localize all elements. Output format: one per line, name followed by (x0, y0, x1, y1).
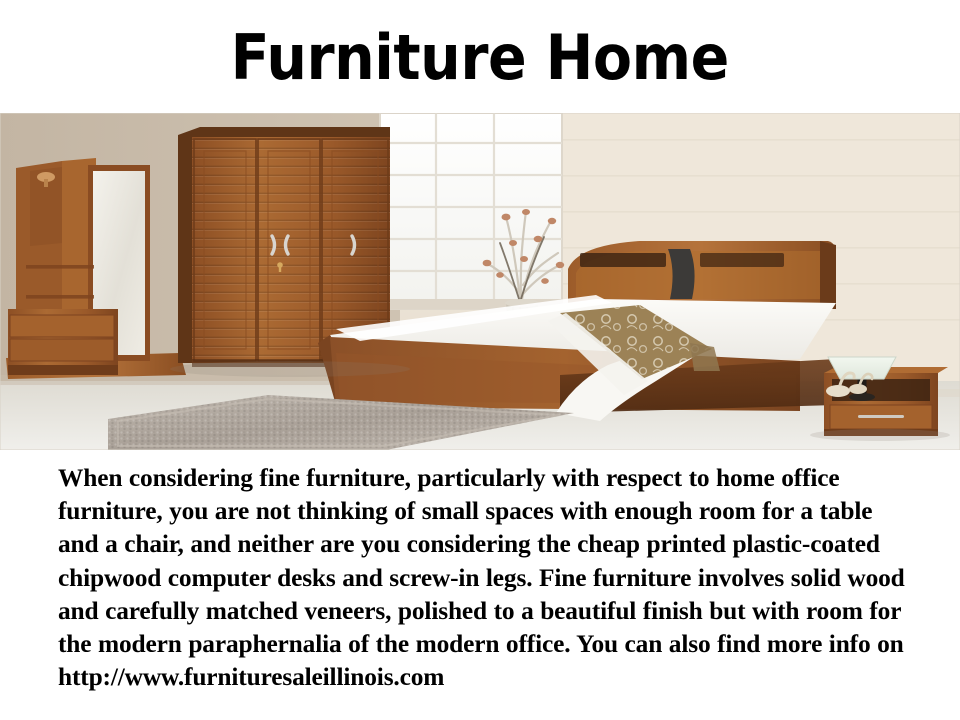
slide-root: Furniture Home (0, 0, 960, 720)
headboard-niche (700, 253, 784, 267)
lamp-base (849, 393, 875, 401)
body-text-block: When considering fine furniture, particu… (0, 450, 960, 720)
body-paragraph: When considering fine furniture, particu… (58, 462, 910, 694)
lamp-shade (828, 357, 896, 379)
bedroom-scene-illustration (0, 113, 960, 450)
bedroom-furniture-set-photo (0, 113, 960, 450)
nightstand-handle-icon (858, 415, 904, 418)
headboard-niche (580, 253, 666, 267)
page-title: Furniture Home (231, 27, 729, 89)
dresser-shelf (26, 265, 94, 269)
window (380, 113, 562, 309)
drawer (10, 339, 114, 361)
dresser-shelf (26, 295, 94, 299)
title-band: Furniture Home (0, 0, 960, 113)
drawer (10, 315, 114, 337)
